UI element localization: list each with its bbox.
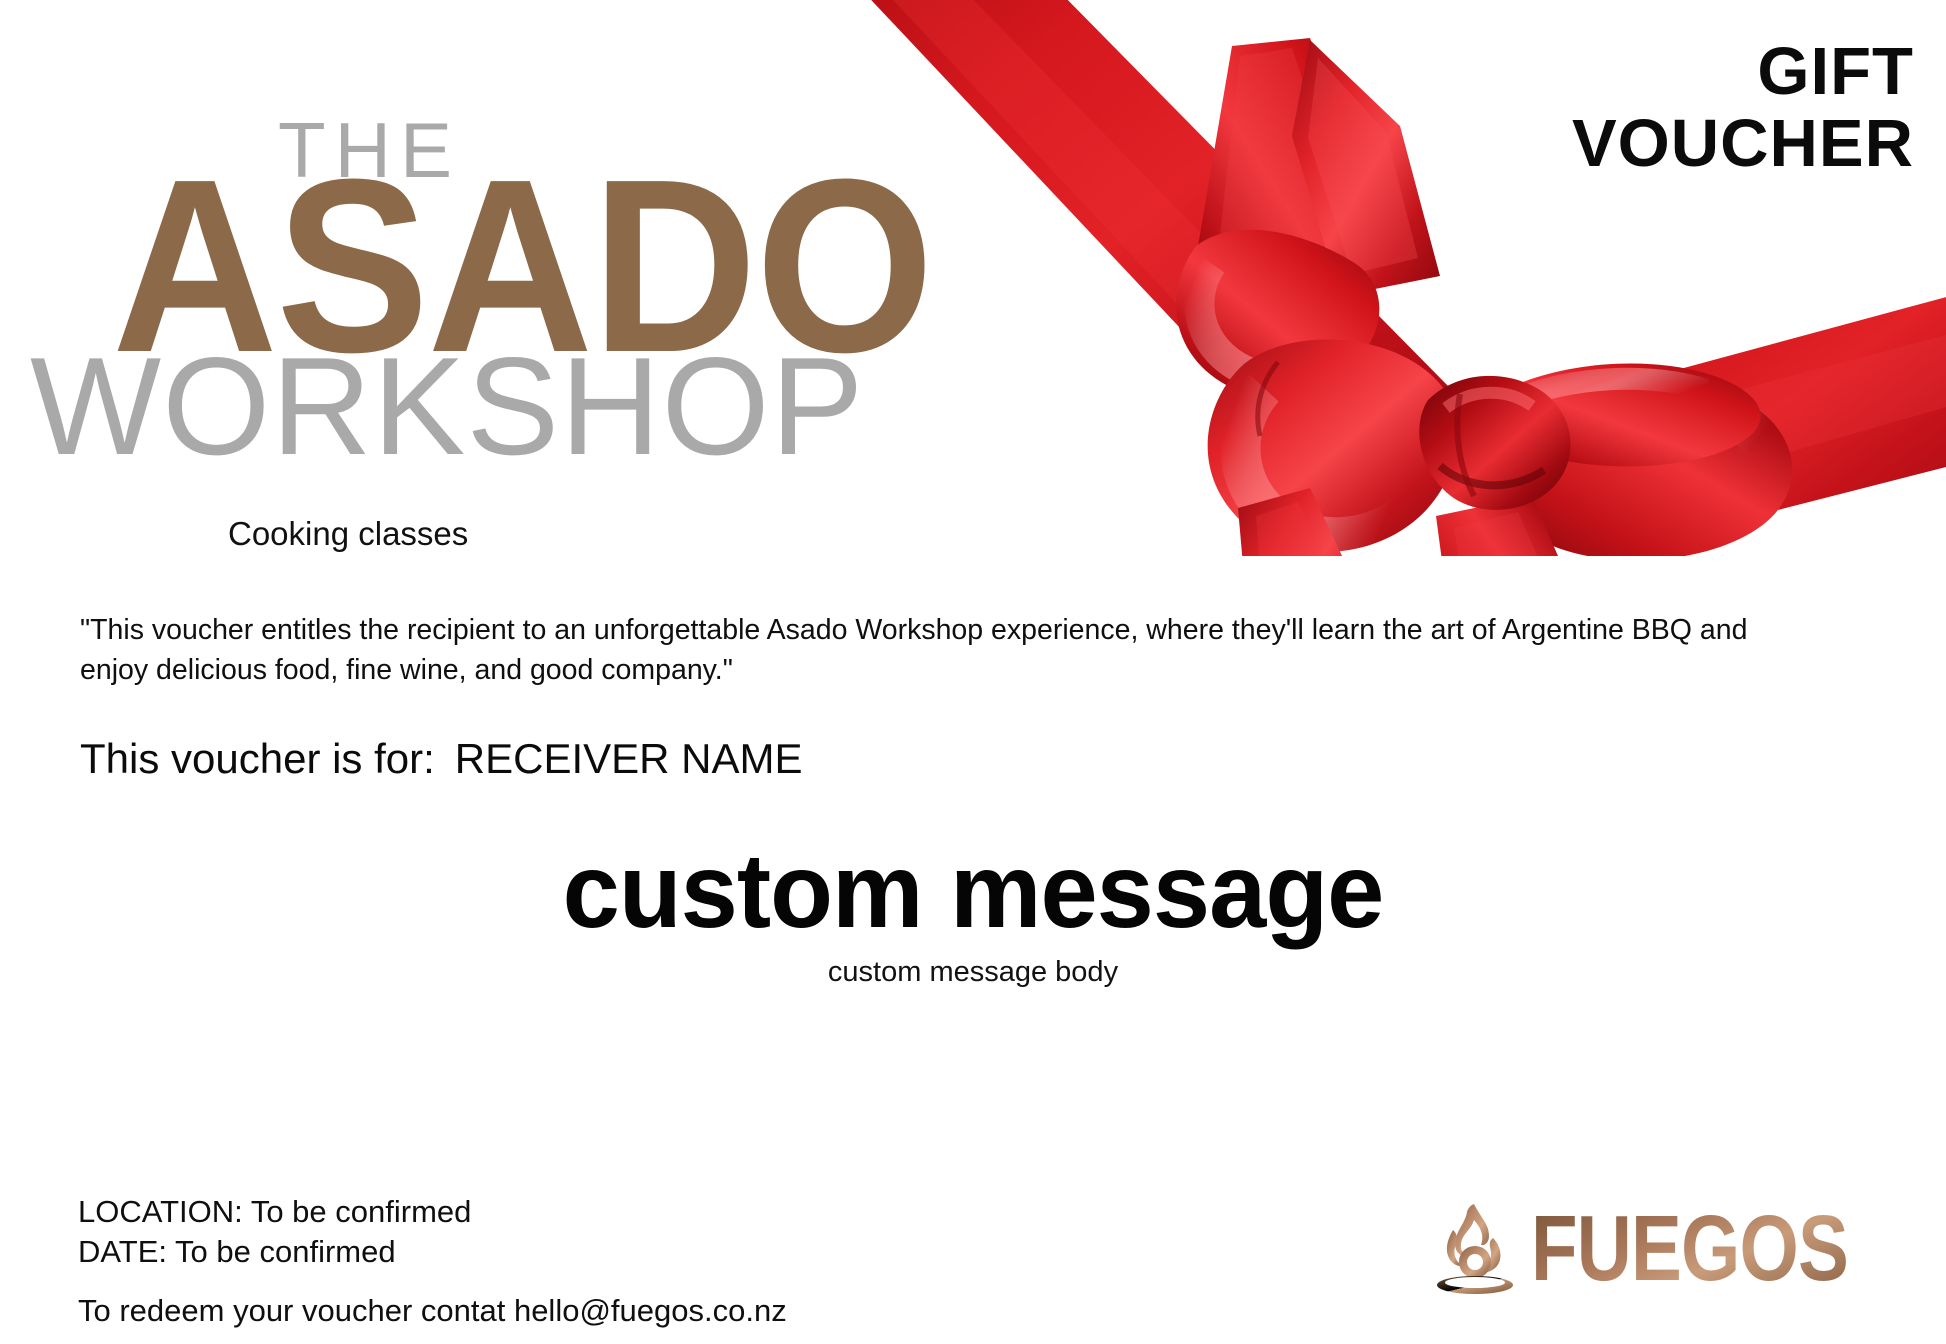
fuegos-wordmark: FUEGOS — [1531, 1202, 1848, 1295]
footer-details: LOCATION: To be confirmed DATE: To be co… — [78, 1192, 787, 1331]
gift-voucher-heading: GIFT VOUCHER — [1394, 36, 1914, 179]
recipient-label: This voucher is for: — [80, 735, 435, 782]
footer-date: DATE: To be confirmed — [78, 1232, 787, 1272]
custom-message-title: custom message — [29, 838, 1917, 944]
fuegos-brand-logo: FUEGOS — [1431, 1196, 1918, 1300]
flame-icon — [1431, 1200, 1519, 1296]
logo-word-asado: ASADO — [112, 143, 932, 390]
gift-voucher-heading-line2: VOUCHER — [1394, 108, 1914, 180]
logo-tagline: Cooking classes — [228, 517, 468, 550]
footer-redeem-instructions: To redeem your voucher contat hello@fueg… — [78, 1291, 787, 1331]
recipient-name: RECEIVER NAME — [455, 735, 803, 782]
recipient-line: This voucher is for:RECEIVER NAME — [80, 736, 803, 782]
voucher-description-quote: "This voucher entitles the recipient to … — [80, 610, 1750, 691]
asado-workshop-logo: THE WORKSHOP ASADO Cooking classes — [0, 95, 760, 575]
gift-voucher-card: GIFT VOUCHER THE WORKSHOP ASADO Cooking … — [0, 0, 1946, 1344]
gift-voucher-heading-line1: GIFT — [1394, 36, 1914, 108]
custom-message-body: custom message body — [0, 958, 1946, 987]
footer-location: LOCATION: To be confirmed — [78, 1192, 787, 1232]
